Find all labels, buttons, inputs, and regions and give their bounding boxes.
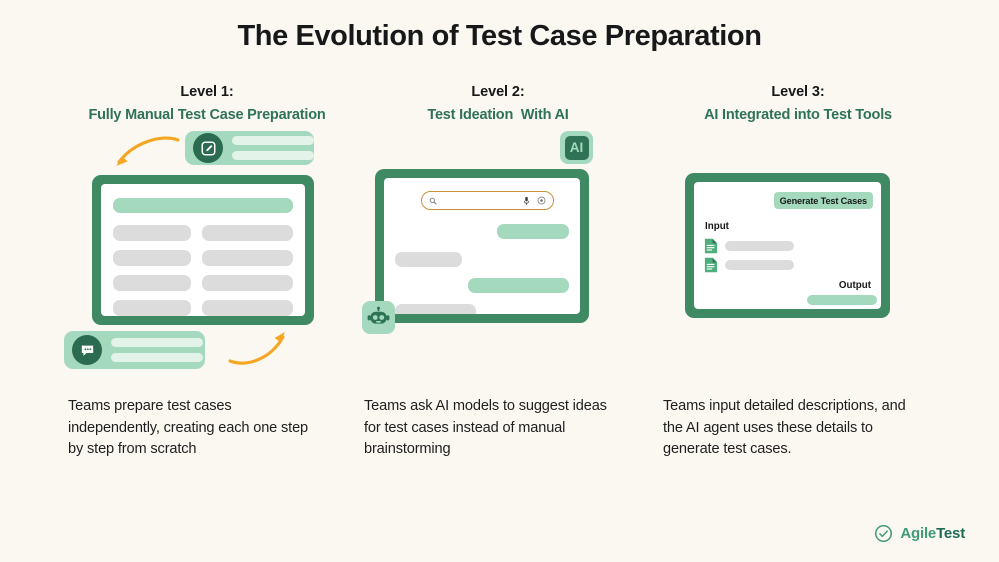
output-label: Output <box>839 280 871 291</box>
table-cell-bar <box>202 225 293 241</box>
brand-name-first: Agile <box>900 525 936 542</box>
pill-line <box>232 136 314 145</box>
pill-lines <box>232 136 314 160</box>
footer-logo: AgileTest <box>874 524 965 543</box>
ai-badge-icon: AI <box>560 131 593 164</box>
search-actions <box>523 196 546 206</box>
microphone-icon[interactable] <box>523 196 530 206</box>
ai-response-bar <box>497 224 569 239</box>
level-1-label: Level 1: <box>52 84 362 100</box>
generate-test-cases-button[interactable]: Generate Test Cases <box>774 192 873 209</box>
column-1-header: Level 1: Fully Manual Test Case Preparat… <box>52 84 362 123</box>
pill-line <box>111 353 203 362</box>
chat-bubble-icon <box>72 335 102 365</box>
input-value-bar <box>725 260 794 270</box>
user-message-bar <box>395 252 462 267</box>
edit-note-pill <box>185 131 314 165</box>
table-cell-bar <box>202 275 293 291</box>
edit-pencil-icon <box>193 133 223 163</box>
input-value-bar <box>725 241 794 251</box>
page-title: The Evolution of Test Case Preparation <box>0 20 999 53</box>
ai-badge-label: AI <box>565 136 589 160</box>
column-level-3: Level 3: AI Integrated into Test Tools G… <box>643 84 953 403</box>
level-3-illustration: Generate Test Cases Input <box>643 123 953 403</box>
input-label: Input <box>705 221 729 232</box>
level-3-description: Teams input detailed descriptions, and t… <box>663 396 923 461</box>
test-case-table-window <box>92 175 314 325</box>
pill-line <box>111 338 203 347</box>
level-2-title: Test Ideation With AI <box>343 107 653 123</box>
check-circle-icon <box>874 524 893 543</box>
curved-arrow-down-left-icon <box>110 136 182 172</box>
search-input[interactable] <box>421 191 554 210</box>
level-2-description: Teams ask AI models to suggest ideas for… <box>364 396 609 461</box>
ai-response-bar <box>468 278 569 293</box>
column-level-2: Level 2: Test Ideation With AI <box>343 84 653 403</box>
column-level-1: Level 1: Fully Manual Test Case Preparat… <box>52 84 362 403</box>
table-cell-bar <box>113 300 191 316</box>
window-inner <box>101 184 305 316</box>
output-value-bar <box>807 295 877 305</box>
table-cell-bar <box>113 275 191 291</box>
brand-name: AgileTest <box>900 525 965 542</box>
column-2-header: Level 2: Test Ideation With AI <box>343 84 653 123</box>
table-cell-bar <box>202 250 293 266</box>
chat-comment-pill <box>64 331 205 369</box>
level-1-description: Teams prepare test cases independently, … <box>68 396 313 461</box>
window-inner: Generate Test Cases Input <box>694 182 881 309</box>
pill-line <box>232 151 314 160</box>
level-3-label: Level 3: <box>643 84 953 100</box>
document-icon <box>704 238 718 254</box>
pill-lines <box>111 338 203 362</box>
level-1-title: Fully Manual Test Case Preparation <box>52 107 362 123</box>
input-row <box>704 257 794 273</box>
camera-lens-icon[interactable] <box>537 196 546 205</box>
curved-arrow-up-right-icon <box>226 328 298 366</box>
search-icon <box>429 197 437 205</box>
table-header-bar <box>113 198 293 213</box>
table-cell-bar <box>113 225 191 241</box>
user-message-bar <box>395 304 476 314</box>
ai-chat-window <box>375 169 589 323</box>
column-3-header: Level 3: AI Integrated into Test Tools <box>643 84 953 123</box>
level-1-illustration <box>52 123 362 403</box>
robot-glyph <box>367 306 390 329</box>
test-tool-window: Generate Test Cases Input <box>685 173 890 318</box>
level-2-illustration: AI <box>343 123 653 403</box>
level-2-label: Level 2: <box>343 84 653 100</box>
table-cell-bar <box>113 250 191 266</box>
document-icon <box>704 257 718 273</box>
window-inner <box>384 178 580 314</box>
brand-name-second: Test <box>936 525 965 542</box>
table-cell-bar <box>202 300 293 316</box>
input-row <box>704 238 794 254</box>
level-3-title: AI Integrated into Test Tools <box>643 107 953 123</box>
robot-icon <box>362 301 395 334</box>
